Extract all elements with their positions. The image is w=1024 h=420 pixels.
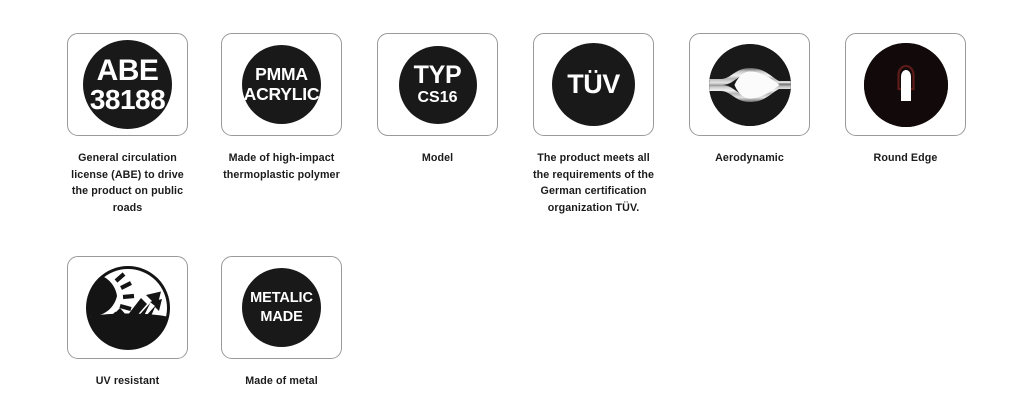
abe-approval-badge-icon: ABE 38188 — [83, 40, 172, 129]
sun-uv-resistance-icon — [86, 266, 170, 350]
feature-caption-metal: Made of metal — [220, 373, 343, 390]
feature-caption-uv-resistant: UV resistant — [66, 373, 189, 390]
model-badge-line2: CS16 — [417, 90, 457, 106]
badge-card-abe: ABE 38188 — [67, 33, 188, 136]
feature-item-aerodynamic: Aerodynamic — [688, 33, 811, 167]
metal-badge-line2: MADE — [260, 310, 302, 324]
badge-card-uv-resistant — [67, 256, 188, 359]
abe-badge-line2: 38188 — [90, 86, 165, 113]
feature-item-round-edge: Round Edge — [844, 33, 967, 167]
model-badge-line1: TYP — [414, 63, 462, 88]
pmma-badge-line2: ACRYLIC — [244, 86, 320, 103]
feature-item-uv-resistant: UV resistant — [66, 256, 189, 390]
badge-card-tuv: TÜV — [533, 33, 654, 136]
badge-card-model: TYP CS16 — [377, 33, 498, 136]
feature-item-abe: ABE 38188 General circulation license (A… — [66, 33, 189, 216]
sun-uv-resistance-graphic — [86, 266, 170, 350]
feature-caption-abe: General circulation license (ABE) to dri… — [66, 150, 189, 216]
tuv-certification-badge-icon: TÜV — [552, 43, 635, 126]
feature-item-pmma: PMMA ACRYLIC Made of high-impact thermop… — [220, 33, 343, 183]
badge-card-pmma: PMMA ACRYLIC — [221, 33, 342, 136]
feature-badge-grid: ABE 38188 General circulation license (A… — [0, 0, 1024, 420]
feature-item-model: TYP CS16 Model — [376, 33, 499, 167]
feature-caption-pmma: Made of high-impact thermoplastic polyme… — [220, 150, 343, 183]
metal-badge-line1: METALIC — [250, 291, 313, 305]
feature-item-tuv: TÜV The product meets all the requiremen… — [532, 33, 655, 216]
model-type-badge-icon: TYP CS16 — [399, 46, 477, 124]
airflow-streamline-icon — [709, 44, 791, 126]
round-edge-profile-graphic — [864, 43, 948, 127]
badge-card-round-edge — [845, 33, 966, 136]
abe-badge-line1: ABE — [97, 56, 159, 85]
round-edge-profile-icon — [864, 43, 948, 127]
metalic-made-badge-icon: METALIC MADE — [242, 268, 321, 347]
airflow-streamline-graphic — [709, 44, 791, 126]
feature-item-metal: METALIC MADE Made of metal — [220, 256, 343, 390]
pmma-acrylic-badge-icon: PMMA ACRYLIC — [242, 45, 321, 124]
badge-card-aerodynamic — [689, 33, 810, 136]
tuv-badge-line1: TÜV — [567, 71, 620, 97]
pmma-badge-line1: PMMA — [255, 66, 308, 83]
badge-card-metal: METALIC MADE — [221, 256, 342, 359]
feature-caption-model: Model — [376, 150, 499, 167]
feature-caption-aerodynamic: Aerodynamic — [688, 150, 811, 167]
feature-caption-round-edge: Round Edge — [844, 150, 967, 167]
feature-caption-tuv: The product meets all the requirements o… — [532, 150, 655, 216]
